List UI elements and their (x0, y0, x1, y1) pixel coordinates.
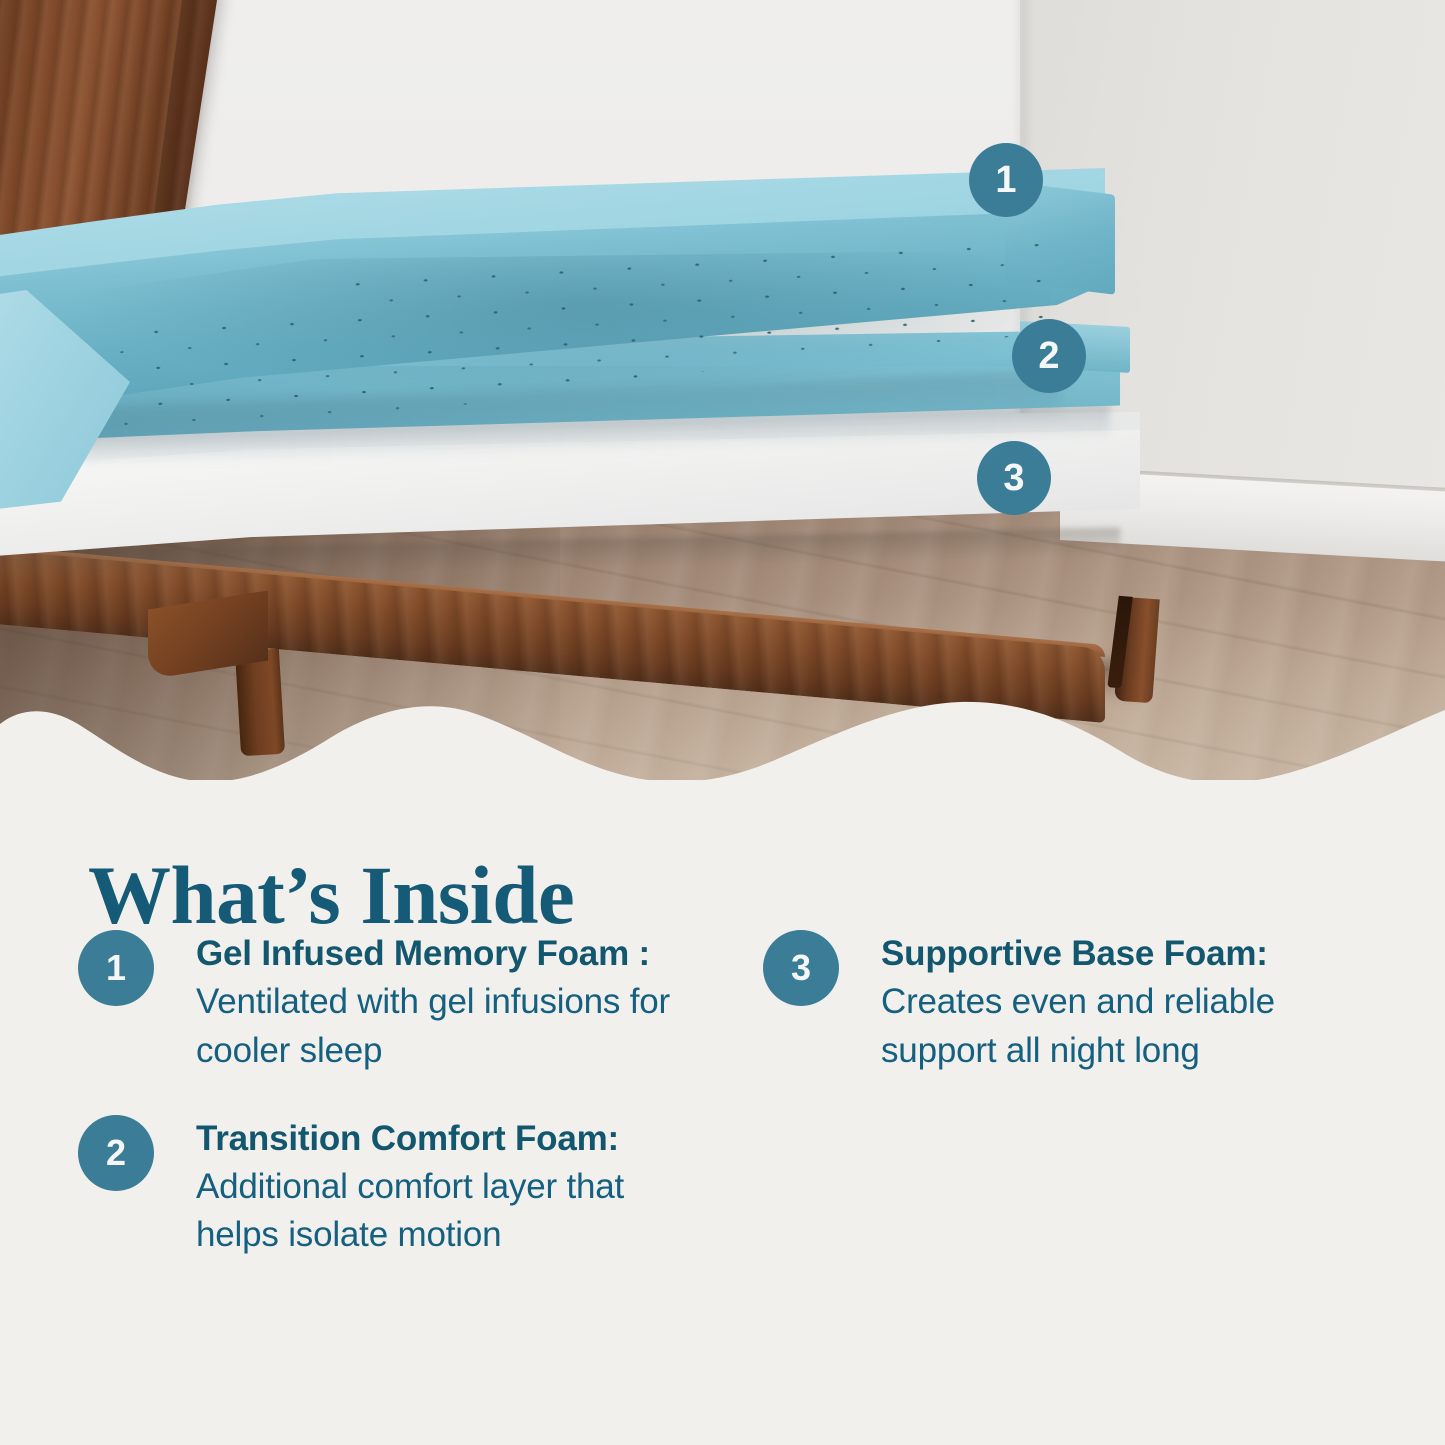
feature-badge-2: 2 (78, 1115, 154, 1191)
feature-text-3: Supportive Base Foam: Creates even and r… (881, 930, 1363, 1075)
feature-lead-2: Transition Comfort Foam: (196, 1119, 619, 1158)
feature-body-2: Additional comfort layer that helps isol… (196, 1167, 624, 1254)
whats-inside-section: What’s Inside 1 Gel Infused Memory Foam … (0, 780, 1445, 1445)
feature-column-left: 1 Gel Infused Memory Foam : Ventilated w… (78, 930, 678, 1300)
feature-text-1: Gel Infused Memory Foam : Ventilated wit… (196, 930, 678, 1075)
product-photo: 1 2 3 (0, 0, 1445, 790)
feature-item-2[interactable]: 2 Transition Comfort Foam: Additional co… (78, 1115, 678, 1260)
feature-lead-3: Supportive Base Foam: (881, 934, 1268, 973)
feature-badge-3: 3 (763, 930, 839, 1006)
feature-text-2: Transition Comfort Foam: Additional comf… (196, 1115, 678, 1260)
feature-lead-1: Gel Infused Memory Foam : (196, 934, 650, 973)
feature-column-right: 3 Supportive Base Foam: Creates even and… (763, 930, 1363, 1115)
feature-body-3: Creates even and reliable support all ni… (881, 982, 1275, 1069)
feature-item-3[interactable]: 3 Supportive Base Foam: Creates even and… (763, 930, 1363, 1075)
feature-body-1: Ventilated with gel infusions for cooler… (196, 982, 670, 1069)
infographic-page: 1 2 3 What’s Inside 1 Gel Infused Memory… (0, 0, 1445, 1445)
feature-item-1[interactable]: 1 Gel Infused Memory Foam : Ventilated w… (78, 930, 678, 1075)
page-title: What’s Inside (88, 854, 574, 937)
feature-badge-1: 1 (78, 930, 154, 1006)
